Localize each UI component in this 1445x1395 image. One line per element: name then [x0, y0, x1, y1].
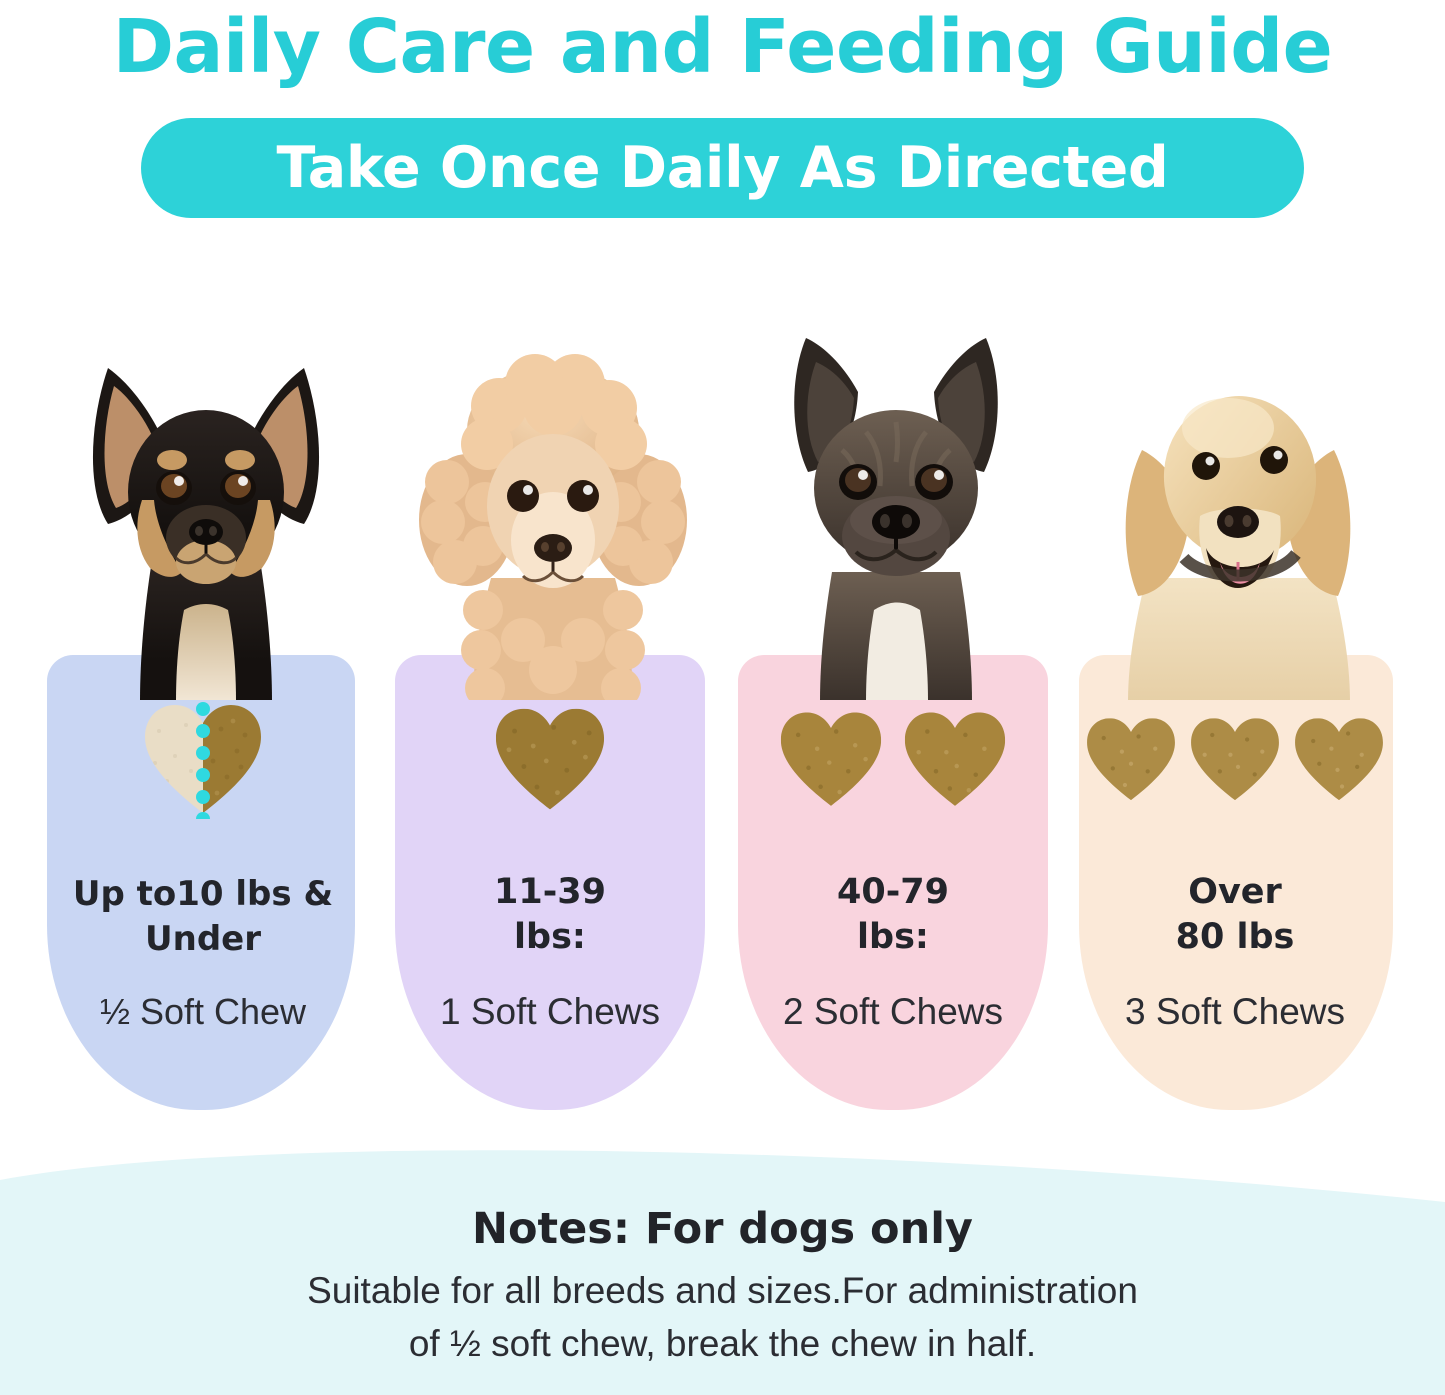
soft-chew-icon [492, 705, 608, 815]
dosage-card-11-39-lbs[interactable]: 11-39 lbs: 1 Soft Chews [390, 300, 715, 1110]
weight-range-label: Up to10 lbs & Under [43, 872, 363, 962]
feeding-guide-infographic: Daily Care and Feeding Guide Take Once D… [0, 0, 1445, 1395]
chew-group [1075, 690, 1395, 830]
directions-banner-label: Take Once Daily As Directed [277, 135, 1169, 201]
soft-chew-icon [777, 709, 885, 811]
chew-group [733, 690, 1053, 830]
notes-title: Notes: For dogs only [0, 1204, 1445, 1254]
directions-banner: Take Once Daily As Directed [141, 118, 1304, 218]
weight-range-label: Over 80 lbs [1075, 870, 1395, 960]
dose-label: 1 Soft Chews [390, 990, 710, 1034]
dosage-card-row: Up to10 lbs & Under ½ Soft Chew [0, 300, 1445, 1110]
dog-photo-chihuahua [43, 300, 368, 700]
chew-group [43, 690, 363, 830]
notes-panel: Notes: For dogs only Suitable for all br… [0, 1148, 1445, 1395]
page-title: Daily Care and Feeding Guide [0, 4, 1445, 90]
dog-photo-french-bulldog [733, 300, 1058, 700]
dog-photo-poodle [390, 300, 715, 700]
dog-photo-golden-retriever [1075, 300, 1400, 700]
soft-chew-icon [901, 709, 1009, 811]
dosage-card-up-to-10-lbs[interactable]: Up to10 lbs & Under ½ Soft Chew [43, 300, 368, 1110]
soft-chew-icon [1292, 715, 1386, 805]
dosage-card-over-80-lbs[interactable]: Over 80 lbs 3 Soft Chews [1075, 300, 1400, 1110]
weight-range-label: 40-79 lbs: [733, 870, 1053, 960]
dose-label: 3 Soft Chews [1075, 990, 1395, 1034]
soft-chew-icon [1188, 715, 1282, 805]
dose-label: 2 Soft Chews [733, 990, 1053, 1034]
dosage-card-40-79-lbs[interactable]: 40-79 lbs: 2 Soft Chews [733, 300, 1058, 1110]
weight-range-label: 11-39 lbs: [390, 870, 710, 960]
chew-group [390, 690, 710, 830]
notes-body: Suitable for all breeds and sizes.For ad… [0, 1264, 1445, 1370]
soft-chew-icon [1084, 715, 1178, 805]
half-soft-chew-icon [141, 701, 265, 819]
dose-label: ½ Soft Chew [43, 990, 363, 1034]
